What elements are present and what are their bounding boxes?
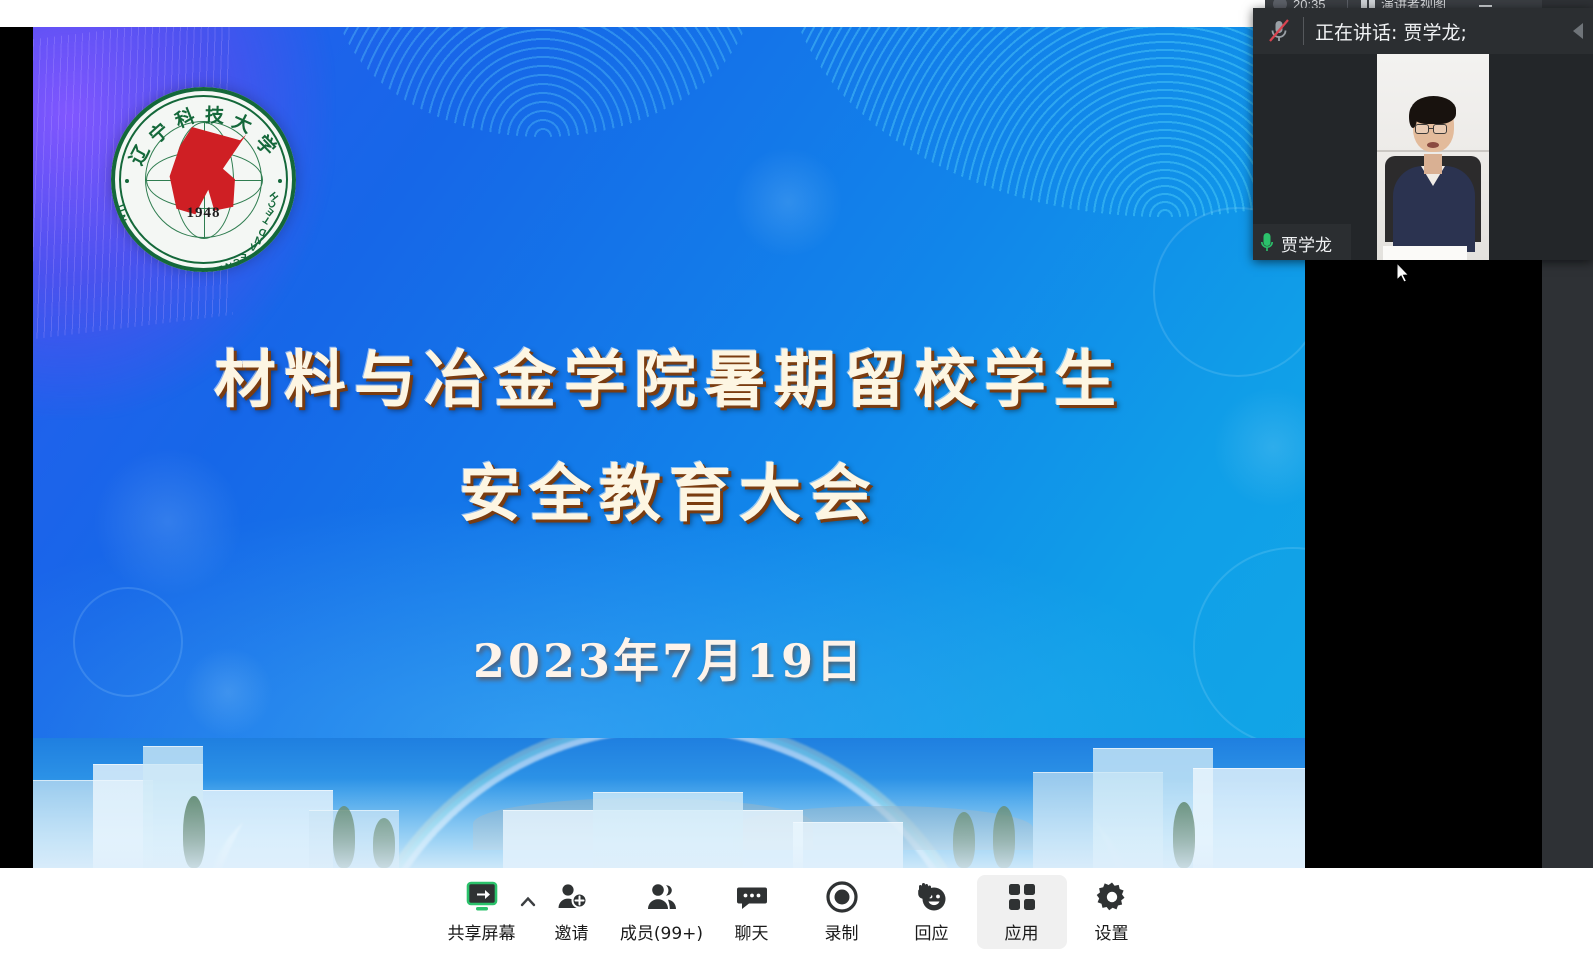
toolbar-button-participants[interactable]: 成员(99+) <box>617 875 707 949</box>
participant-name-badge: 贾学龙 <box>1253 224 1351 260</box>
toolbar-label-reaction: 回应 <box>915 919 949 944</box>
mic-active-icon <box>1261 232 1273 252</box>
slide-wave-arcs-2 <box>333 27 753 137</box>
toolbar-label-settings: 设置 <box>1095 919 1129 944</box>
webcam-desk <box>1383 246 1467 260</box>
webcam-glasses-right <box>1433 124 1447 134</box>
left-letterbox <box>0 27 33 868</box>
share-screen-icon <box>465 880 499 914</box>
toolbar-button-share-screen[interactable]: 共享屏幕 <box>437 875 527 949</box>
logo-dot <box>125 179 129 183</box>
floating-panel-header[interactable]: 正在讲话: 贾学龙; <box>1253 8 1593 54</box>
gear-icon <box>1095 880 1129 914</box>
toolbar-label-participants: 成员(99+) <box>620 919 703 944</box>
speaker-webcam-feed <box>1377 54 1489 260</box>
toolbar-items: 共享屏幕 邀请 <box>0 868 1593 956</box>
logo-en-name: U N I V E R S I T Y O F S C I E N C E A <box>111 179 296 271</box>
bokeh-circle <box>733 147 843 257</box>
chevron-collapse-icon[interactable] <box>1567 20 1589 42</box>
speaking-status-label: 正在讲话: 贾学龙; <box>1315 18 1467 45</box>
toolbar-label-invite: 邀请 <box>555 919 589 944</box>
minimize-icon[interactable] <box>1479 5 1492 7</box>
header-divider <box>1303 17 1304 45</box>
campus-haze <box>33 778 1305 868</box>
logo-dot <box>278 179 282 183</box>
toolbar-button-record[interactable]: 录制 <box>797 875 887 949</box>
webcam-mouth <box>1427 142 1439 148</box>
webcam-neck <box>1424 154 1442 174</box>
invite-user-icon <box>555 880 589 914</box>
toolbar-button-chat[interactable]: 聊天 <box>707 875 797 949</box>
toolbar-label-apps: 应用 <box>1005 919 1039 944</box>
slide-title-line-2: 安全教育大会 <box>33 437 1305 551</box>
webcam-glasses-bridge <box>1429 128 1433 129</box>
campus-panorama <box>33 738 1305 868</box>
record-icon <box>825 880 859 914</box>
participant-name: 贾学龙 <box>1281 231 1332 256</box>
toolbar-label-record: 录制 <box>825 919 859 944</box>
logo-cn-name: 辽 宁 科 技 大 学 <box>111 93 296 185</box>
slide-date: 2023年7月19日 <box>33 625 1305 691</box>
mouse-pointer-icon <box>1396 262 1410 283</box>
university-logo: 1948 辽 宁 科 技 大 学 U N I V E R S I T Y O <box>111 87 296 272</box>
toolbar-button-apps[interactable]: 应用 <box>977 875 1067 949</box>
meeting-toolbar: 共享屏幕 邀请 <box>0 868 1593 956</box>
toolbar-label-share-screen: 共享屏幕 <box>448 919 516 944</box>
speaker-video-tile[interactable]: 贾学龙 <box>1253 54 1593 260</box>
shared-screen-slide: 1948 辽 宁 科 技 大 学 U N I V E R S I T Y O <box>33 27 1305 868</box>
toolbar-button-invite[interactable]: 邀请 <box>527 875 617 949</box>
toolbar-button-reaction[interactable]: 回应 <box>887 875 977 949</box>
toolbar-label-chat: 聊天 <box>735 919 769 944</box>
reaction-icon <box>915 880 949 914</box>
toolbar-button-settings[interactable]: 设置 <box>1067 875 1157 949</box>
webcam-glasses-left <box>1415 124 1429 134</box>
floating-speaker-panel[interactable]: 正在讲话: 贾学龙; <box>1253 8 1593 260</box>
chat-icon <box>735 880 769 914</box>
slide-title: 材料与冶金学院暑期留校学生 安全教育大会 <box>33 323 1305 551</box>
slide-title-line-1: 材料与冶金学院暑期留校学生 <box>33 323 1305 437</box>
webcam-hair <box>1411 96 1456 124</box>
mic-muted-icon[interactable] <box>1266 18 1292 44</box>
screen-root: 20:35 演讲者视图 1948 辽 <box>0 0 1593 956</box>
apps-grid-icon <box>1005 880 1039 914</box>
participants-icon <box>645 880 679 914</box>
slide-wave-arcs <box>785 27 1305 217</box>
